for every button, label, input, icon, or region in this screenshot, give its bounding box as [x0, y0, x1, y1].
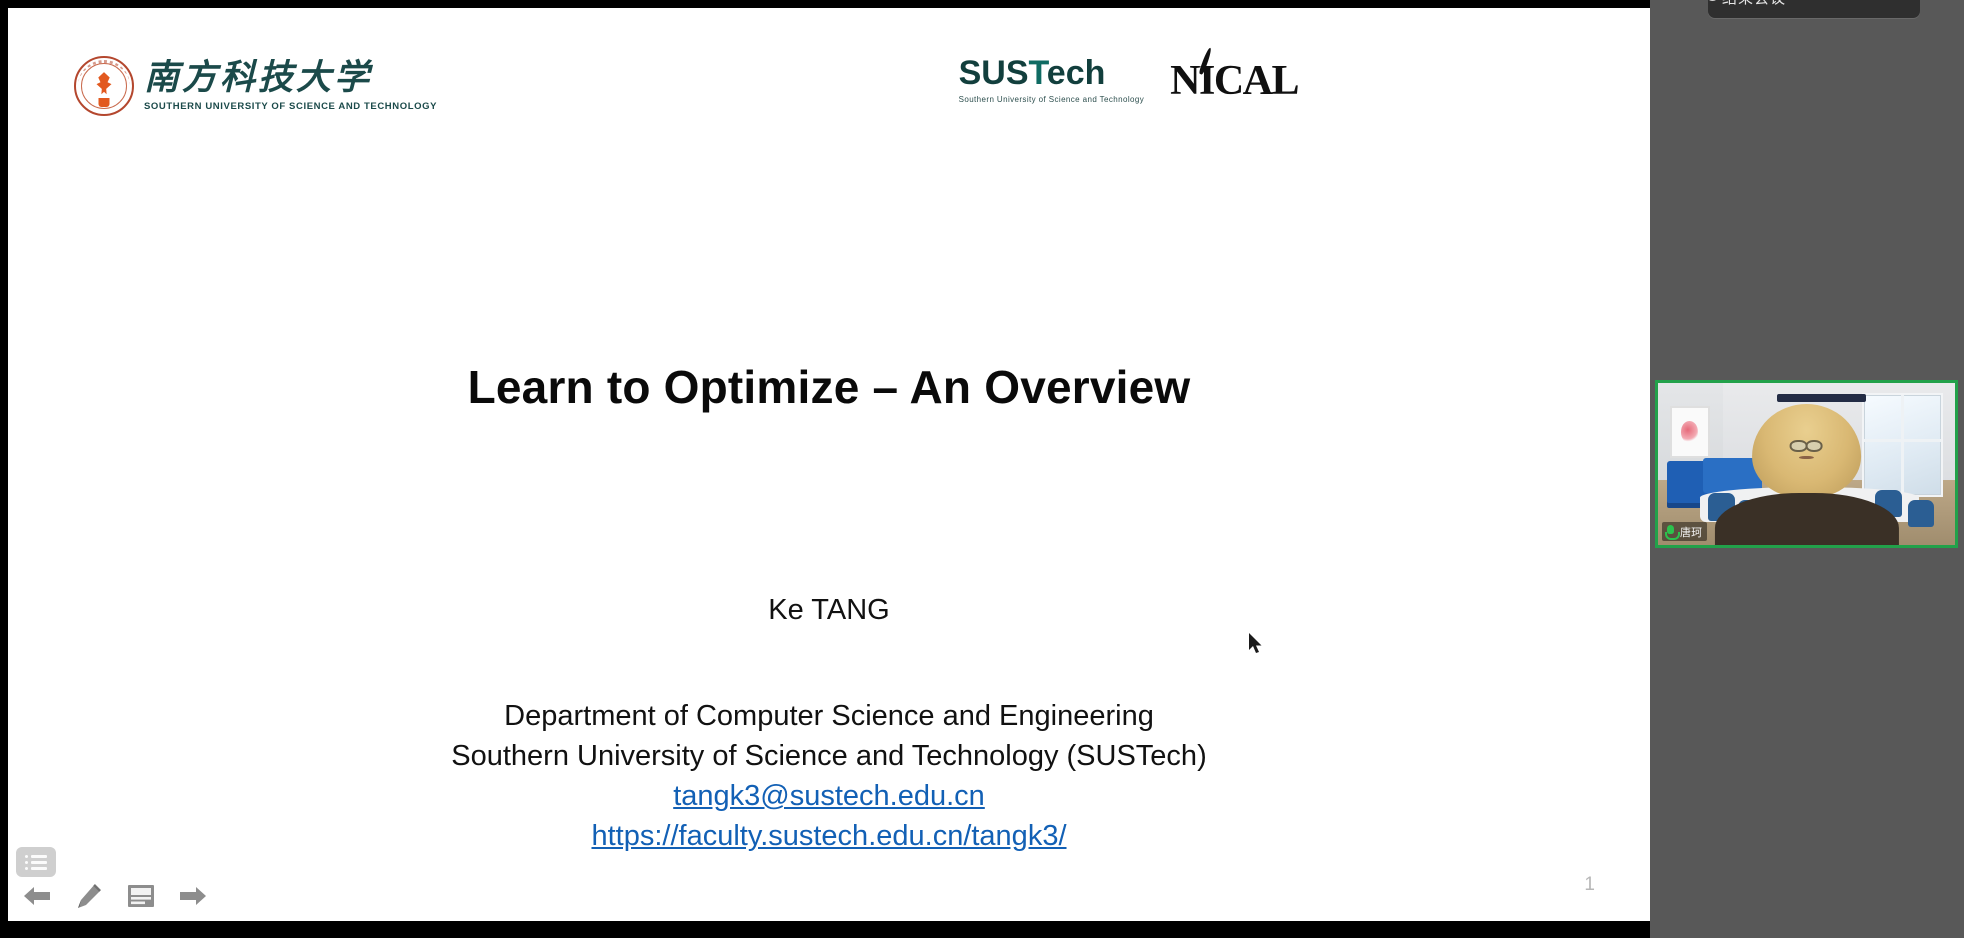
- university-chinese-name: 南方科技大学: [144, 61, 437, 96]
- sustech-logo-subtitle: Southern University of Science and Techn…: [959, 95, 1145, 104]
- video-person-mouth: [1799, 456, 1813, 460]
- pen-button[interactable]: [72, 879, 106, 913]
- notes-button[interactable]: [124, 879, 158, 913]
- microphone-icon: [1664, 524, 1677, 539]
- video-person-head: [1752, 404, 1862, 498]
- video-wall-picture: [1670, 406, 1710, 459]
- sustech-wordmark: SUSTech: [959, 56, 1106, 90]
- sustech-chinese-logo: 南方科技大学 SOUTHERN UNIVERSITY OF SCIENCE AN…: [74, 56, 437, 116]
- end-meeting-pill[interactable]: 结束会议: [1708, 0, 1920, 18]
- video-blackboard: [1777, 394, 1866, 402]
- right-logo-group: SUSTech Southern University of Science a…: [959, 56, 1298, 104]
- homepage-link[interactable]: https://faculty.sustech.edu.cn/tangk3/: [8, 816, 1650, 856]
- next-slide-button[interactable]: [176, 879, 210, 913]
- author-name: Ke TANG: [8, 594, 1650, 627]
- nical-logo: NICAL: [1170, 56, 1298, 102]
- presenter-toolbar: [20, 879, 210, 913]
- presentation-slide: 南方科技大学 SOUTHERN UNIVERSITY OF SCIENCE AN…: [8, 8, 1650, 921]
- video-person-glasses: [1790, 440, 1823, 448]
- sustech-sus: SUS: [959, 54, 1029, 92]
- video-window: [1862, 393, 1943, 497]
- previous-slide-button[interactable]: [20, 879, 54, 913]
- email-link[interactable]: tangk3@sustech.edu.cn: [8, 776, 1650, 816]
- affiliation-line-1: Department of Computer Science and Engin…: [8, 696, 1650, 736]
- sustech-ech: ech: [1047, 54, 1106, 92]
- notes-icon: [127, 884, 155, 908]
- participant-name-label: 唐珂: [1680, 524, 1702, 540]
- screen-root: 结束会议 唐珂: [0, 0, 1964, 938]
- arrow-right-icon: [178, 883, 208, 909]
- university-english-subtitle: SOUTHERN UNIVERSITY OF SCIENCE AND TECHN…: [144, 101, 437, 112]
- end-meeting-label: 结束会议: [1722, 0, 1786, 8]
- list-menu-icon: [25, 852, 47, 873]
- slide-page-number: 1: [1584, 874, 1595, 896]
- slide-menu-button[interactable]: [16, 847, 56, 877]
- video-chair: [1908, 500, 1935, 528]
- nical-wordmark: NICAL: [1170, 60, 1298, 102]
- affiliation-line-2: Southern University of Science and Techn…: [8, 736, 1650, 776]
- video-scene: [1658, 383, 1955, 545]
- sustech-english-logo: SUSTech Southern University of Science a…: [959, 56, 1145, 104]
- participant-name-chip: 唐珂: [1662, 522, 1707, 541]
- pencil-icon: [75, 882, 103, 910]
- participant-video-tile[interactable]: 唐珂: [1655, 380, 1958, 548]
- university-seal-icon: [74, 56, 134, 116]
- arrow-left-icon: [22, 883, 52, 909]
- mouse-cursor-icon: [1248, 633, 1264, 655]
- page-title: Learn to Optimize – An Overview: [8, 360, 1650, 414]
- affiliation-block: Department of Computer Science and Engin…: [8, 696, 1650, 856]
- pill-dot-icon: [1708, 0, 1719, 1]
- sustech-t: T: [1029, 54, 1047, 92]
